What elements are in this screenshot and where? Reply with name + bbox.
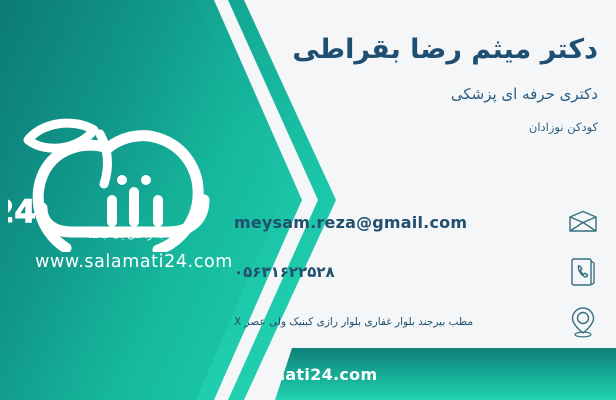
phone-value: ۰۵۶۳۱۶۲۲۵۲۸	[230, 263, 564, 281]
logo-badge-24: 24	[8, 194, 36, 230]
logo-website-url: www.salamati24.com	[8, 252, 260, 272]
doctor-degree: دکتری حرفه ای پزشکی	[238, 85, 598, 103]
business-card: 24 به راحتی یک لبخند www.salamati24.com …	[0, 0, 616, 400]
email-value: meysam.reza@gmail.com	[230, 213, 564, 232]
envelope-icon	[564, 210, 602, 234]
address-value: مطب بیرجند بلوار غفاری بلوار رازی کبنیک …	[230, 315, 564, 330]
contact-row-address[interactable]: مطب بیرجند بلوار غفاری بلوار رازی کبنیک …	[230, 305, 602, 339]
location-pin-icon	[564, 306, 602, 338]
doctor-field: کودکن نوزادان	[238, 120, 598, 134]
contact-row-email[interactable]: meysam.reza@gmail.com	[230, 205, 602, 239]
contact-row-phone[interactable]: ۰۵۶۳۱۶۲۲۵۲۸	[230, 255, 602, 289]
doctor-name: دکتر میثم رضا بقراطی	[238, 33, 598, 67]
profile-block: دکتر میثم رضا بقراطی دکتری حرفه ای پزشکی…	[238, 0, 598, 134]
contact-list: meysam.reza@gmail.com ۰۵۶۳۱۶۲۲۵۲۸ مط	[230, 205, 602, 355]
brand-logo: 24 به راحتی یک لبخند www.salamati24.com	[8, 104, 260, 279]
logo-tagline: به راحتی یک لبخند	[8, 230, 244, 241]
phone-book-icon	[564, 257, 602, 287]
